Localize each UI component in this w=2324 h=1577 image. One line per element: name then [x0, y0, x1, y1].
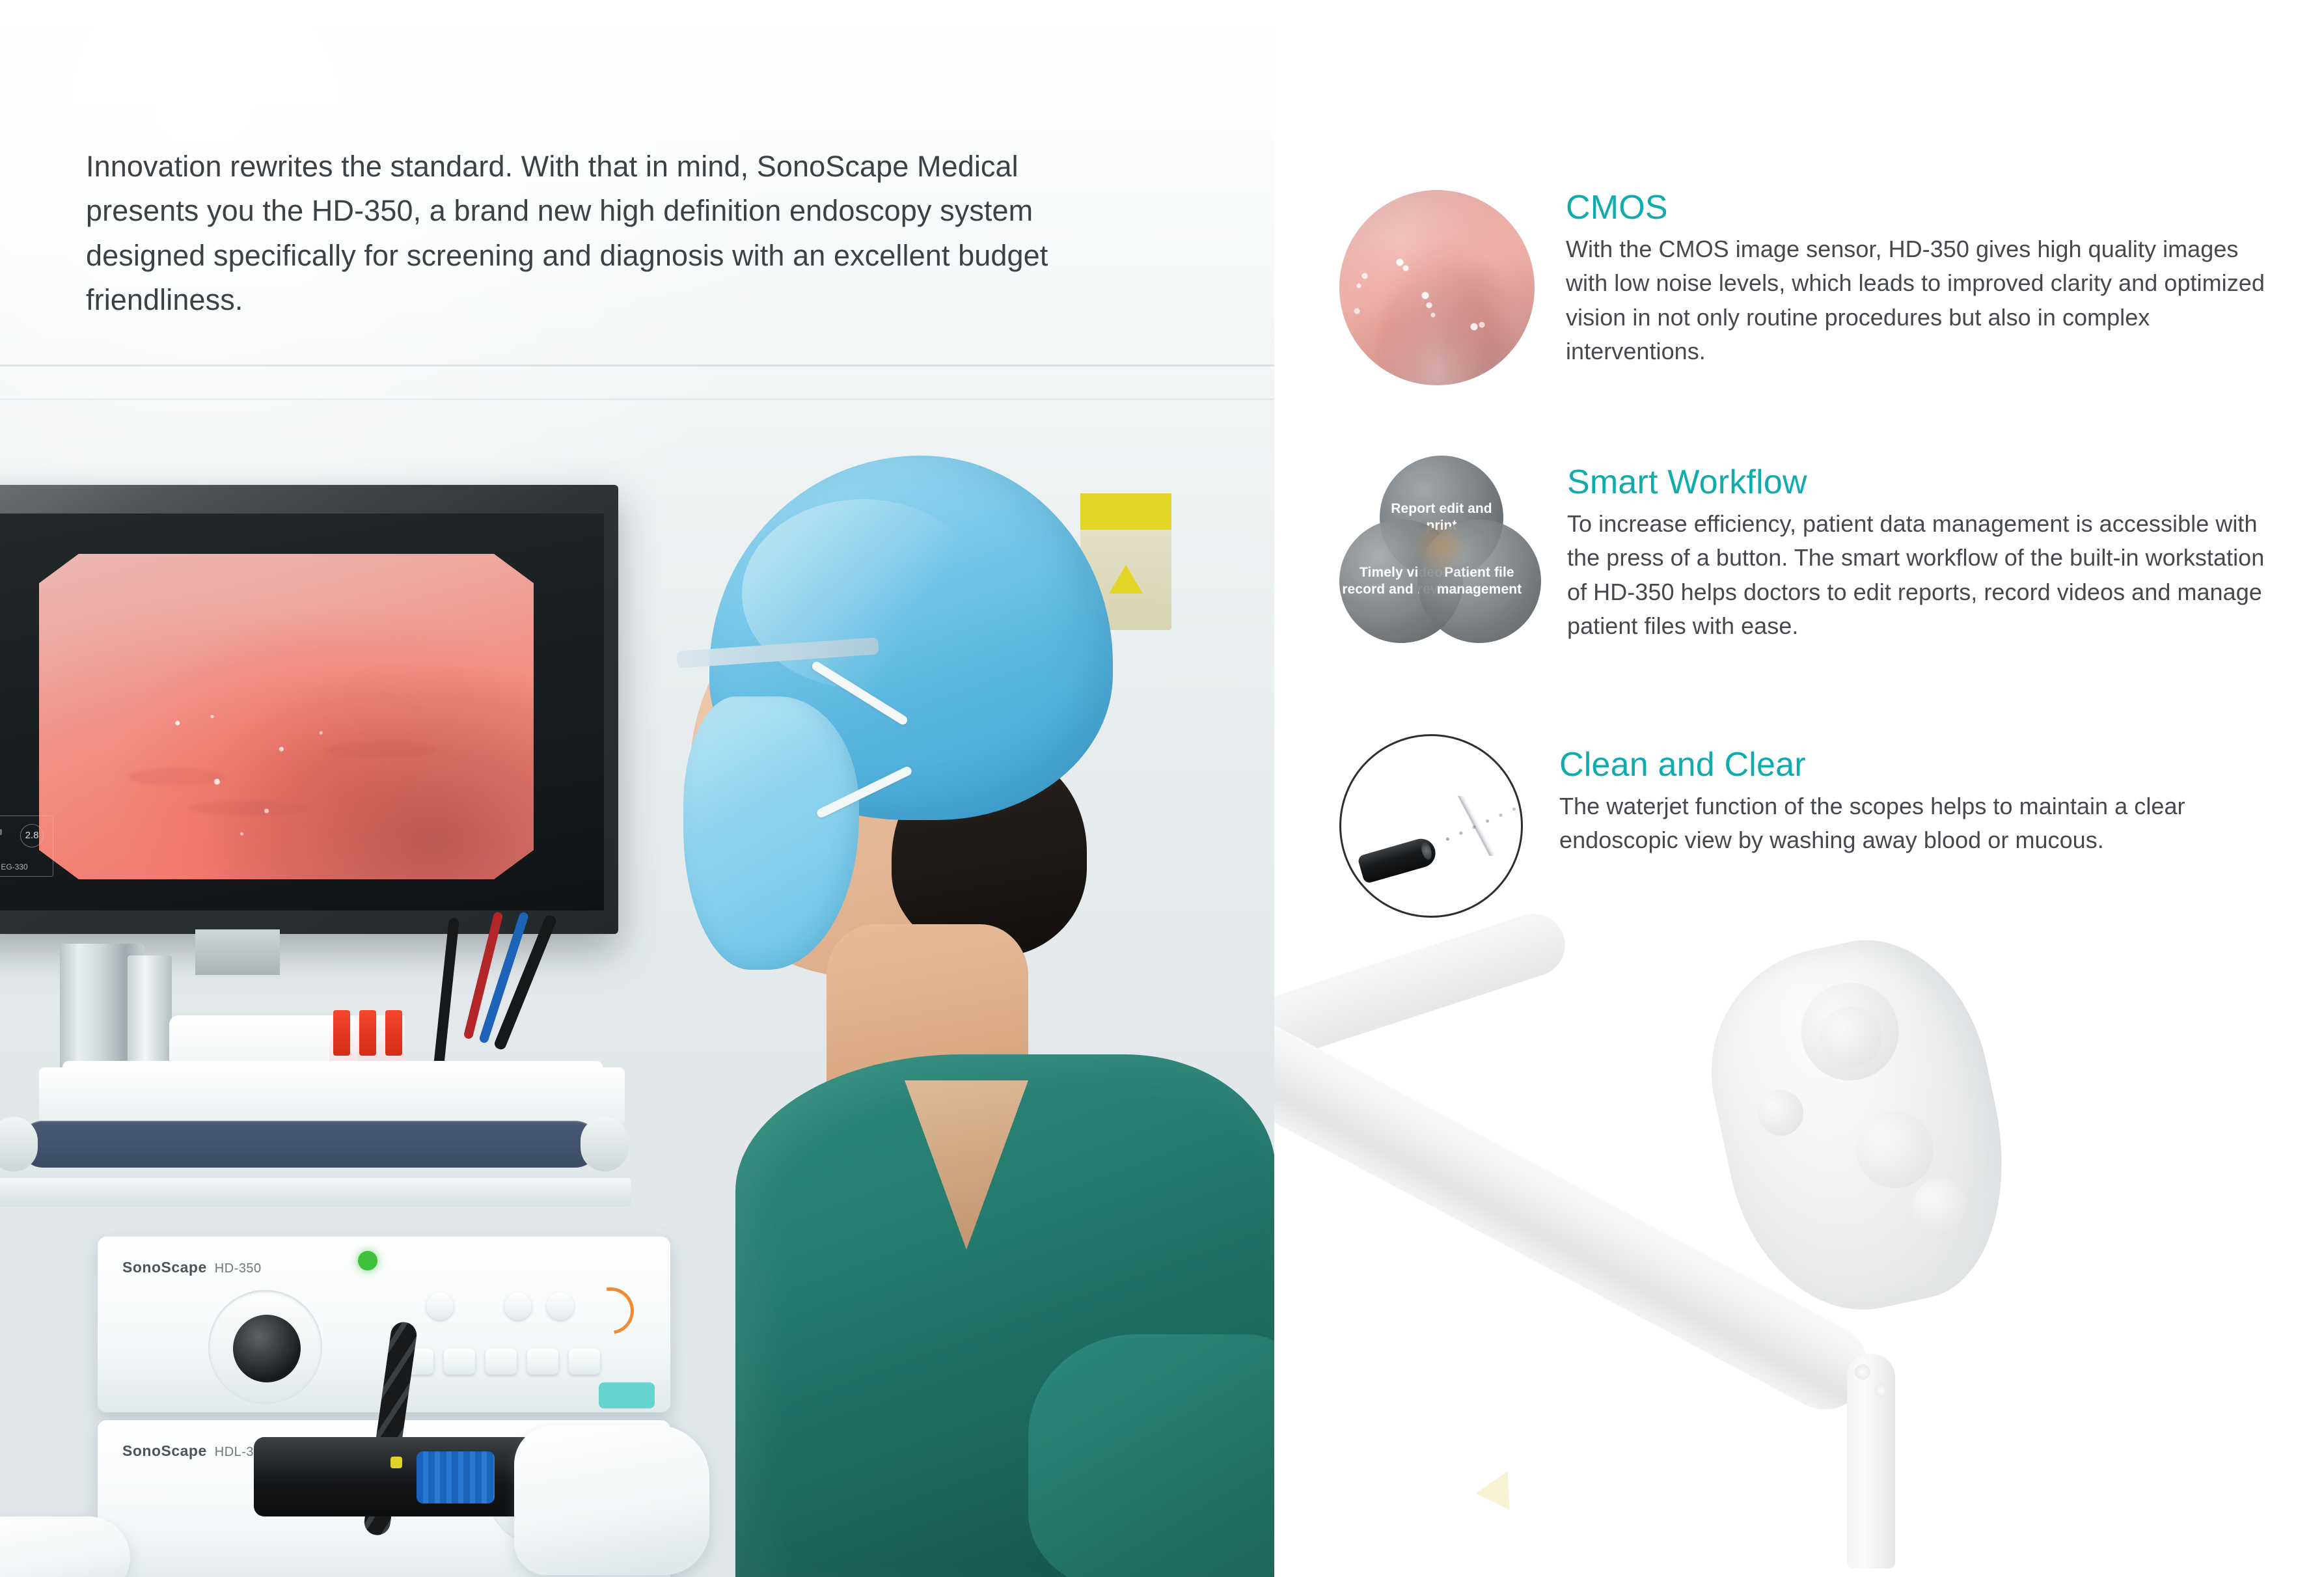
- badge-model: EG-330: [0, 862, 53, 872]
- gloved-hand: [514, 1425, 709, 1575]
- venn-diagram-icon: Report edit and print Timely video recor…: [1339, 456, 1541, 644]
- feature-clean-and-clear-body: The waterjet function of the scopes help…: [1559, 789, 2276, 858]
- light-source-brand: SonoScapeHDL-350: [122, 1442, 269, 1460]
- function-button[interactable]: [527, 1349, 558, 1375]
- watermark-air-water-valve: [1907, 1173, 1973, 1240]
- feature-clean-and-clear: Clean and Clear The waterjet function of…: [1339, 734, 2276, 918]
- wall-seam: [0, 398, 1274, 400]
- badge-value: 2.8: [20, 824, 44, 847]
- control-button[interactable]: [426, 1293, 454, 1320]
- watermark-yellow-marker: [1476, 1463, 1525, 1510]
- feature-smart-workflow-body: To increase efficiency, patient data man…: [1567, 507, 2276, 644]
- power-led: [358, 1251, 377, 1270]
- teal-clip: [599, 1382, 655, 1408]
- tube-cap: [359, 1010, 376, 1056]
- endoscope-watermark: [1274, 911, 2324, 1577]
- feature-smart-workflow-title: Smart Workflow: [1567, 465, 2276, 501]
- gloved-hand: [0, 1516, 130, 1577]
- control-button[interactable]: [547, 1293, 574, 1320]
- function-button[interactable]: [444, 1349, 475, 1375]
- cart-tray: [39, 1067, 625, 1125]
- scope-distal-tip: [1357, 836, 1439, 884]
- water-stream: [1423, 796, 1523, 856]
- features-panel: CMOS With the CMOS image sensor, HD-350 …: [1274, 0, 2324, 1577]
- cart-shelf: [0, 1178, 631, 1207]
- wall-seam: [0, 364, 1274, 366]
- feature-cmos-text: CMOS With the CMOS image sensor, HD-350 …: [1566, 190, 2276, 369]
- feature-clean-and-clear-text: Clean and Clear The waterjet function of…: [1559, 734, 2276, 858]
- connector-indicator: [390, 1457, 402, 1468]
- venn-diagram: Report edit and print Timely video recor…: [1339, 456, 1541, 644]
- feature-cmos-title: CMOS: [1566, 190, 2276, 226]
- processor-brand: SonoScapeHD-350: [122, 1259, 262, 1276]
- feature-smart-workflow-text: Smart Workflow To increase efficiency, p…: [1567, 456, 2276, 644]
- function-button[interactable]: [569, 1349, 600, 1375]
- function-button[interactable]: [485, 1349, 517, 1375]
- connector-blue-sleeve: [417, 1451, 495, 1503]
- cart-handle-bar: [20, 1121, 599, 1168]
- feature-smart-workflow: Report edit and print Timely video recor…: [1339, 456, 2276, 644]
- status-arc-indicator: [578, 1278, 643, 1343]
- feature-cmos: CMOS With the CMOS image sensor, HD-350 …: [1339, 190, 2276, 385]
- feature-clean-and-clear-title: Clean and Clear: [1559, 747, 2276, 783]
- watermark-distal-end: [1847, 1354, 1895, 1569]
- scope-connector: [254, 1437, 534, 1516]
- waterjet-spray-illustration: [1339, 734, 1523, 918]
- feature-cmos-body: With the CMOS image sensor, HD-350 gives…: [1566, 232, 2276, 369]
- monitor-screen: pe 1 Auto 1.0 A3 1 0 0 0 2.8 EG-330: [0, 514, 604, 911]
- doctor-arm: [1028, 1334, 1274, 1577]
- live-endoscopic-feed: [39, 554, 534, 879]
- intro-paragraph: Innovation rewrites the standard. With t…: [86, 144, 1101, 323]
- sign-top-band: [1080, 493, 1171, 530]
- endoscopy-monitor: pe 1 Auto 1.0 A3 1 0 0 0 2.8 EG-330: [0, 485, 618, 934]
- cmos-image-icon: [1339, 190, 1535, 385]
- venn-circle-patient: Patient file management: [1417, 519, 1541, 643]
- monitor-bezel: pe 1 Auto 1.0 A3 1 0 0 0 2.8 EG-330: [0, 514, 604, 911]
- warning-triangle-icon: [1109, 565, 1143, 594]
- clinical-photo-panel: pe 1 Auto 1.0 A3 1 0 0 0 2.8 EG-330: [0, 0, 1274, 1577]
- watermark-control-head: [1688, 919, 2031, 1332]
- monitor-stand: [195, 929, 280, 975]
- watermark-remote-button: [1754, 1086, 1808, 1140]
- tube-cap: [385, 1010, 402, 1056]
- endoscopic-mucosa-image: [1339, 190, 1535, 385]
- tube-cap: [333, 1010, 350, 1056]
- scope-info-badge: 2.8 EG-330: [0, 816, 53, 877]
- connector-knob[interactable]: [233, 1315, 301, 1382]
- waterjet-icon: [1339, 734, 1523, 918]
- control-button[interactable]: [504, 1293, 532, 1320]
